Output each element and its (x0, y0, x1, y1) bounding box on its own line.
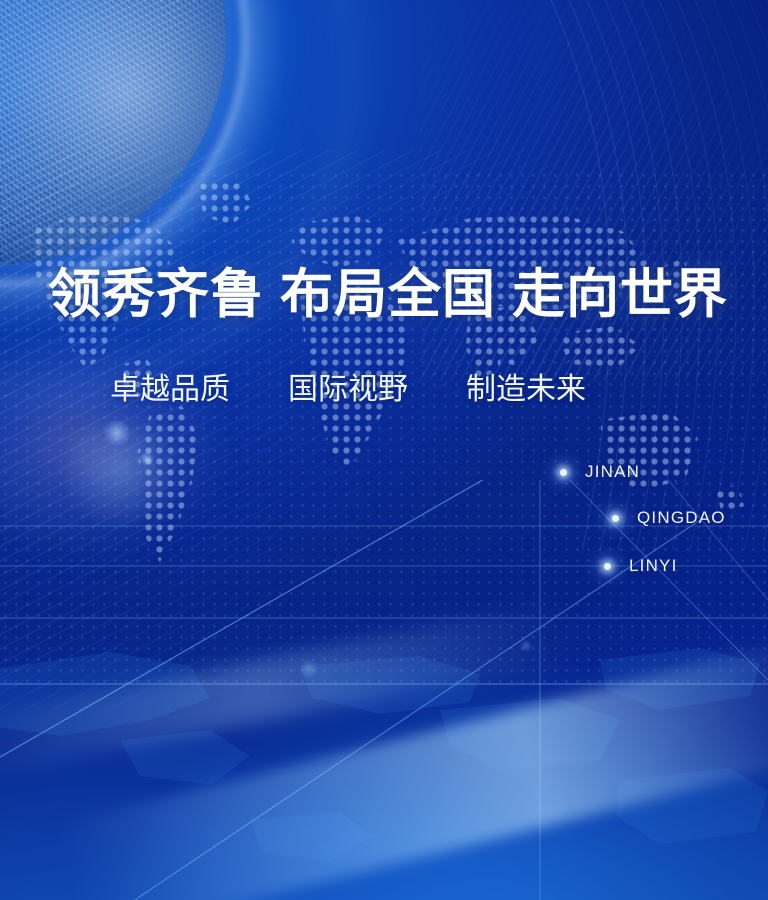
headline-part-1: 领秀齐鲁 (48, 266, 264, 324)
banner-headline: 领秀齐鲁布局全国走向世界 (48, 268, 738, 324)
city-marker-qingdao: QINGDAO (612, 508, 726, 528)
city-marker-jinan: JINAN (560, 462, 640, 482)
city-marker-linyi: LINYI (604, 556, 678, 576)
city-label-linyi: LINYI (629, 556, 678, 576)
map-pin-dot-icon (604, 563, 611, 570)
subheadline-part-1: 卓越品质 (110, 373, 230, 406)
subheadline-part-3: 制造未来 (466, 373, 586, 406)
banner-subheadline: 卓越品质国际视野制造未来 (110, 372, 730, 408)
hero-banner: 领秀齐鲁布局全国走向世界 卓越品质国际视野制造未来 JINAN QINGDAO … (0, 0, 768, 900)
subheadline-part-2: 国际视野 (288, 373, 408, 406)
city-label-qingdao: QINGDAO (637, 508, 726, 528)
map-pin-dot-icon (560, 469, 567, 476)
city-label-jinan: JINAN (585, 462, 640, 482)
headline-part-3: 走向世界 (512, 266, 728, 324)
headline-part-2: 布局全国 (280, 266, 496, 324)
banner-copy: 领秀齐鲁布局全国走向世界 卓越品质国际视野制造未来 JINAN QINGDAO … (0, 0, 768, 900)
map-pin-dot-icon (612, 515, 619, 522)
